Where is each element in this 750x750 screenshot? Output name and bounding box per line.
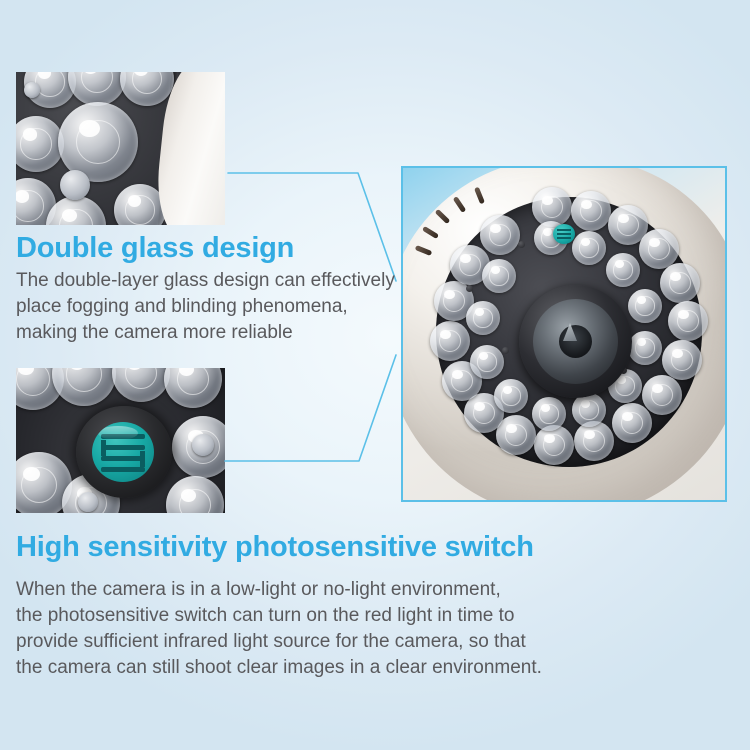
infrared-led-ring bbox=[436, 197, 702, 467]
photoresistor-closeup-photo bbox=[16, 368, 225, 513]
ir-led bbox=[572, 231, 606, 265]
feature-body-double-glass-design: The double-layer glass design can effect… bbox=[16, 268, 436, 346]
led-lens-closeup-photo bbox=[16, 72, 225, 225]
ir-led bbox=[494, 379, 528, 413]
camera-lens-aperture bbox=[559, 325, 592, 358]
ir-led bbox=[612, 403, 652, 443]
feature-body-photosensitive-switch: When the camera is in a low-light or no-… bbox=[16, 577, 596, 681]
photosensitive-switch-sensor bbox=[553, 224, 575, 244]
board-screw bbox=[466, 285, 473, 292]
ir-led bbox=[480, 215, 520, 255]
ir-led bbox=[466, 301, 500, 335]
ir-led bbox=[534, 425, 574, 465]
led-anchor-screw bbox=[192, 434, 214, 456]
ir-led bbox=[628, 289, 662, 323]
connector-line-bottom bbox=[225, 355, 396, 461]
led-anchor-screw bbox=[78, 492, 98, 512]
board-screw bbox=[518, 241, 525, 248]
photoresistor-housing bbox=[76, 406, 172, 498]
ir-led bbox=[662, 340, 702, 380]
ir-led bbox=[482, 259, 516, 293]
infographic-page: Double glass design The double-layer gla… bbox=[0, 0, 750, 750]
ir-led bbox=[532, 397, 566, 431]
led-anchor-screw bbox=[24, 82, 40, 98]
photoresistor-sensor bbox=[92, 422, 154, 482]
ir-led bbox=[572, 393, 606, 427]
ir-led bbox=[668, 301, 708, 341]
ir-led bbox=[470, 345, 504, 379]
feature-headline-double-glass-design: Double glass design bbox=[16, 232, 294, 265]
camera-lens-glass bbox=[533, 299, 618, 384]
ir-led bbox=[571, 191, 611, 231]
dome-camera-front-photo bbox=[401, 166, 727, 502]
ir-led bbox=[660, 263, 700, 303]
board-screw bbox=[502, 347, 509, 354]
ir-led bbox=[606, 253, 640, 287]
feature-headline-photosensitive-switch: High sensitivity photosensitive switch bbox=[16, 531, 534, 564]
camera-lens-barrel bbox=[519, 285, 632, 398]
ir-led bbox=[574, 421, 614, 461]
led-anchor-screw bbox=[60, 170, 90, 200]
ir-led bbox=[642, 375, 682, 415]
ir-led bbox=[430, 321, 470, 361]
ir-led bbox=[628, 331, 662, 365]
